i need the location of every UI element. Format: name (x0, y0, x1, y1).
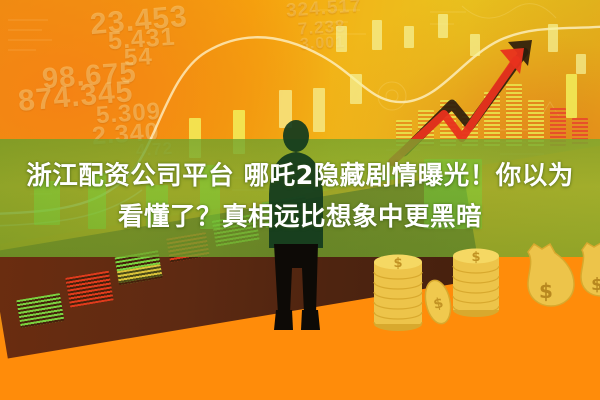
ticker-block (16, 293, 64, 328)
banner-headline: 浙江配资公司平台 哪吒2隐藏剧情曝光！你以为 看懂了？真相远比想象中更黑暗 (0, 156, 600, 238)
headline-line-2: 看懂了？真相远比想象中更黑暗 (0, 197, 600, 238)
bag-dollar-sign: $ (539, 279, 553, 303)
coin-dollar-sign: $ (393, 256, 402, 271)
coin-single: $ (422, 278, 455, 326)
money-bag: $ (581, 243, 600, 296)
money-bag: $ (528, 244, 574, 306)
headline-line-1: 浙江配资公司平台 哪吒2隐藏剧情曝光！你以为 (0, 156, 600, 197)
silhouette-lower (274, 244, 320, 330)
coin-dollar-sign: $ (471, 250, 480, 265)
coin-stack: $ (374, 255, 422, 332)
coin-stack: $ (453, 249, 499, 318)
bag-dollar-sign: $ (591, 275, 600, 295)
ticker-block (65, 271, 113, 308)
money-group: $ $ $ $ $ (360, 240, 600, 350)
promo-banner: 324.517 23.453 7.238 5.431 3.001 54 98.6… (0, 0, 600, 400)
